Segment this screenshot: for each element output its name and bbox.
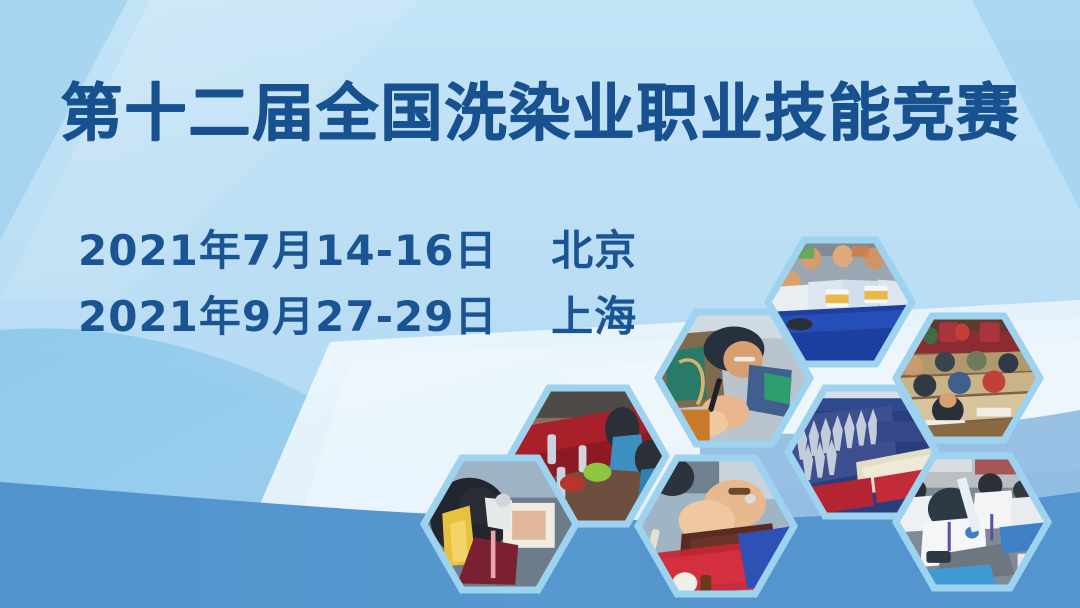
- session-city-beijing: 北京: [551, 226, 637, 275]
- hex-photo-detail-work: [658, 312, 810, 444]
- poster-banner: 第十二届全国洗染业职业技能竞赛 2021年7月14-16日 北京 2021年9月…: [0, 0, 1080, 608]
- title-block: 第十二届全国洗染业职业技能竞赛: [60, 82, 1020, 144]
- session-line-beijing: 2021年7月14-16日 北京: [78, 218, 637, 284]
- session-line-shanghai: 2021年9月27-29日 上海: [78, 284, 637, 350]
- session-list: 2021年7月14-16日 北京 2021年9月27-29日 上海: [78, 218, 637, 351]
- session-date-shanghai: 2021年9月27-29日: [78, 292, 497, 341]
- session-city-shanghai: 上海: [551, 292, 637, 341]
- page-title: 第十二届全国洗染业职业技能竞赛: [60, 82, 1020, 144]
- session-date-beijing: 2021年7月14-16日: [78, 226, 497, 275]
- hex-photo-leather-repair: [638, 458, 794, 594]
- hex-photo-ironing: [896, 456, 1048, 588]
- hex-photo-spray-cleaning: [424, 458, 576, 590]
